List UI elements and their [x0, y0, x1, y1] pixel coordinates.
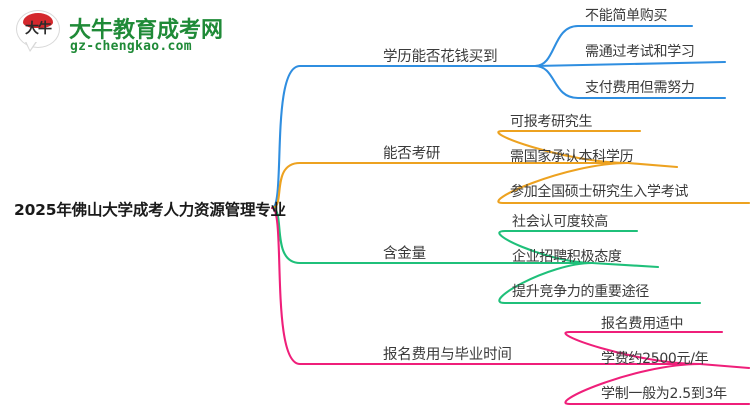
root-topic[interactable]: 2025年佛山大学成考人力资源管理专业 — [14, 198, 286, 220]
connector-path — [628, 163, 677, 167]
leaf-topic-2-1[interactable]: 企业招聘积极态度 — [512, 246, 622, 266]
leaf-topic-2-2[interactable]: 提升竞争力的重要途径 — [512, 281, 649, 301]
branch-topic-1[interactable]: 能否考研 — [383, 142, 440, 163]
logo-bubble-icon: 大牛 — [14, 10, 62, 54]
leaf-topic-3-1[interactable]: 学费约2500元/年 — [601, 348, 708, 368]
leaf-topic-0-2[interactable]: 支付费用但需努力 — [585, 77, 695, 97]
leaf-topic-2-0[interactable]: 社会认可度较高 — [512, 211, 608, 231]
logo-mark-text: 大牛 — [19, 22, 57, 36]
leaf-topic-1-1[interactable]: 需国家承认本科学历 — [510, 146, 633, 166]
logo-website-url: gz-chengkao.com — [70, 39, 192, 54]
branch-topic-2[interactable]: 含金量 — [383, 242, 426, 263]
branch-topic-0[interactable]: 学历能否花钱买到 — [383, 45, 497, 66]
speech-bubble-tail-inner — [26, 41, 36, 50]
leaf-topic-1-0[interactable]: 可报考研究生 — [510, 111, 592, 131]
leaf-topic-1-2[interactable]: 参加全国硕士研究生入学考试 — [510, 181, 688, 201]
site-logo: 大牛 大牛教育成考网 gz-chengkao.com — [14, 8, 214, 58]
branch-topic-3[interactable]: 报名费用与毕业时间 — [383, 343, 512, 364]
connector-path — [535, 62, 725, 66]
leaf-topic-0-1[interactable]: 需通过考试和学习 — [585, 41, 695, 61]
leaf-topic-3-2[interactable]: 学制一般为2.5到3年 — [601, 383, 727, 403]
connector-path — [272, 66, 535, 208]
leaf-topic-3-0[interactable]: 报名费用适中 — [601, 313, 683, 333]
mindmap-canvas: 大牛 大牛教育成考网 gz-chengkao.com 2025年佛山大学成考人力… — [0, 0, 750, 410]
leaf-topic-0-0[interactable]: 不能简单购买 — [585, 5, 667, 25]
